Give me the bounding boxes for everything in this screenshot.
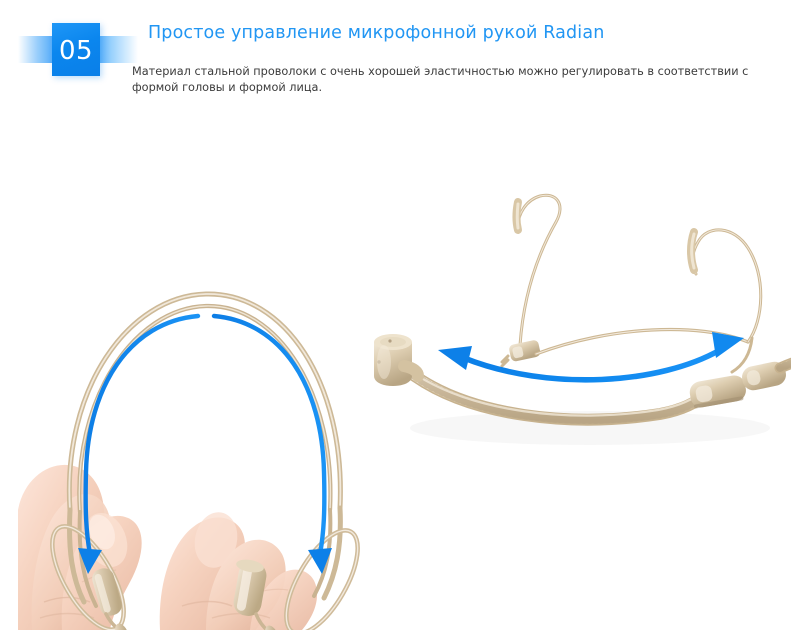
page-header: 05 Простое управление микрофонной рукой …: [0, 0, 791, 120]
product-photo-boom-swivel: [360, 170, 791, 490]
section-badge: 05: [0, 0, 150, 100]
badge-number: 05: [52, 23, 100, 76]
badge-square: 05: [52, 23, 100, 76]
left-ear-hook: [502, 195, 560, 366]
page-title: Простое управление микрофонной рукой Rad…: [148, 23, 604, 43]
mic-capsule: [374, 334, 418, 386]
output-cable: [780, 352, 791, 368]
product-photo-headband-flex: [10, 210, 410, 630]
photo-stage: [0, 120, 791, 631]
page-description: Материал стальной проволоки с очень хоро…: [132, 64, 782, 96]
